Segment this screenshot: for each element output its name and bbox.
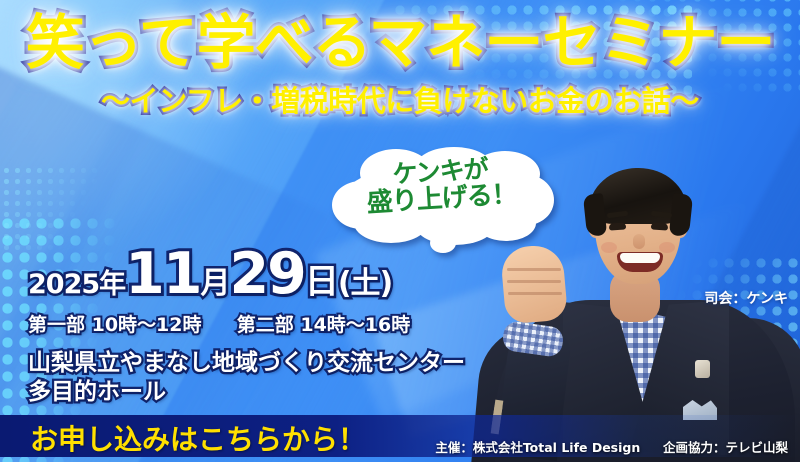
session-second: 第二部 14時〜16時 — [237, 314, 411, 336]
hair-side-left — [583, 193, 607, 237]
seminar-banner: 笑って学べるマネーセミナー 〜インフレ・増税時代に負けないお金のお話〜 ケンキが… — [0, 0, 800, 462]
title-group: 笑って学べるマネーセミナー 〜インフレ・増税時代に負けないお金のお話〜 — [0, 12, 800, 120]
host-label: 司会：ケンキ — [704, 288, 788, 308]
date-year: 2025年 — [28, 271, 125, 298]
diagonal-band — [735, 0, 800, 462]
ear-right — [673, 214, 688, 238]
hair — [589, 168, 687, 224]
teeth — [620, 253, 660, 263]
date-month-number: 11 — [125, 246, 200, 303]
head — [595, 176, 681, 284]
mouth — [617, 252, 663, 272]
date-weekday: (土) — [338, 269, 392, 299]
credits-cooperation: 企画協力：テレビ山梨 — [663, 440, 788, 455]
eyebrow-left — [607, 211, 628, 219]
event-info: 2025年 11 月 29 日 (土) 第一部 10時〜12時 第二部 14時〜… — [28, 246, 498, 408]
neck — [610, 270, 660, 322]
ear-left — [588, 214, 603, 238]
eye-right — [651, 222, 668, 230]
date-day-unit: 日 — [305, 265, 338, 299]
page-title: 笑って学べるマネーセミナー — [0, 12, 800, 74]
credits-organizer: 主催：株式会社Total Life Design — [435, 440, 640, 455]
venue-line1: 山梨県立やまなし地域づくり交流センター — [28, 350, 465, 376]
lapel-pin-icon — [695, 360, 710, 378]
session-times: 第一部 10時〜12時 第二部 14時〜16時 — [28, 310, 498, 337]
speech-bubble: ケンキが 盛り上げる！ — [330, 147, 552, 245]
knuckle-line — [507, 280, 561, 283]
cheek-left — [601, 242, 617, 253]
nose — [633, 234, 645, 249]
venue-line2: 多目的ホール — [28, 378, 498, 407]
halftone-dots-top-right — [600, 0, 800, 95]
event-date: 2025年 11 月 29 日 (土) — [28, 246, 498, 303]
diagonal-band — [543, 0, 800, 462]
knuckle-line — [507, 268, 561, 271]
halftone-dots-top — [392, 0, 692, 101]
shirt-cuff — [501, 320, 565, 358]
venue: 山梨県立やまなし地域づくり交流センター 多目的ホール — [28, 349, 498, 408]
eyebrow-right — [651, 211, 672, 219]
page-subtitle: 〜インフレ・増税時代に負けないお金のお話〜 — [0, 78, 800, 120]
cta-text[interactable]: お申し込みはこちらから！ — [30, 418, 366, 458]
session-first: 第一部 10時〜12時 — [28, 314, 202, 336]
cheek-right — [659, 242, 675, 253]
eye-left — [609, 222, 626, 230]
credits: 主催：株式会社Total Life Design 企画協力：テレビ山梨 — [435, 437, 788, 456]
hair-side-right — [669, 193, 693, 237]
raised-fist — [500, 243, 568, 324]
date-month-unit: 月 — [200, 269, 229, 299]
halftone-dots-left-fine — [0, 165, 110, 255]
knuckle-line — [508, 292, 562, 295]
date-day-number: 29 — [229, 246, 304, 303]
